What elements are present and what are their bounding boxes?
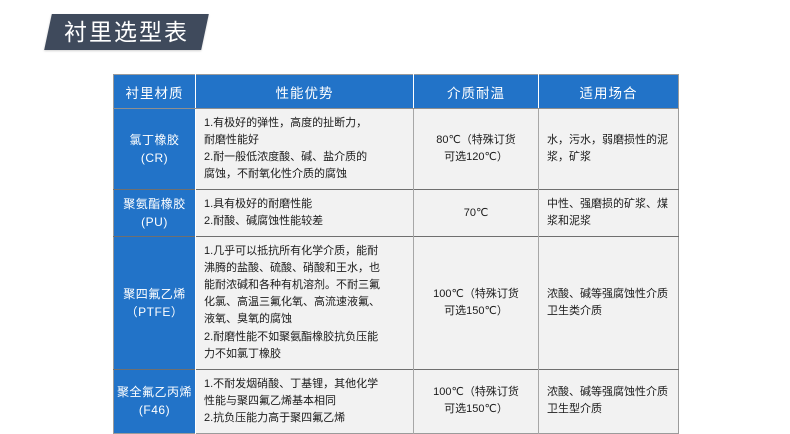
table-row: 氯丁橡胶 (CR) 1.有极好的弹性，高度的扯断力， 耐磨性能好 2.耐一般低浓…	[114, 109, 679, 190]
performance-line: 2.抗负压能力高于聚四氟乙烯	[204, 410, 405, 427]
table-header-row: 衬里材质 性能优势 介质耐温 适用场合	[114, 75, 679, 109]
material-name: 氯丁橡胶	[116, 131, 193, 149]
cell-temperature: 100℃（特殊订货 可选150℃）	[414, 369, 539, 433]
cell-material: 聚全氟乙丙烯 (F46)	[114, 369, 196, 433]
performance-line: 2.耐一般低浓度酸、碱、盐介质的	[204, 149, 405, 166]
performance-line: 2.耐磨性能不如聚氨酯橡胶抗负压能	[204, 329, 405, 346]
cell-temperature: 80℃（特殊订货 可选120℃）	[414, 109, 539, 190]
performance-line: 液氧、臭氧的腐蚀	[204, 311, 405, 328]
performance-line: 沸腾的盐酸、硫酸、硝酸和王水，也	[204, 260, 405, 277]
material-name: 聚氨酯橡胶	[116, 195, 193, 213]
application-line: 中性、强磨损的矿浆、煤	[547, 196, 670, 213]
cell-performance: 1.几乎可以抵抗所有化学介质，能耐 沸腾的盐酸、硫酸、硝酸和王水，也 能耐浓碱和…	[196, 237, 414, 369]
column-header-performance: 性能优势	[196, 75, 414, 109]
application-line: 卫生型介质	[547, 401, 670, 418]
cell-temperature: 70℃	[414, 190, 539, 237]
performance-line: 2.耐酸、碱腐蚀性能较差	[204, 213, 405, 230]
cell-application: 浓酸、碱等强腐蚀性介质 卫生型介质	[539, 369, 679, 433]
cell-performance: 1.具有极好的耐磨性能 2.耐酸、碱腐蚀性能较差	[196, 190, 414, 237]
temperature-line: 可选150℃）	[422, 401, 530, 418]
cell-application: 水，污水，弱磨损性的泥 浆，矿浆	[539, 109, 679, 190]
material-code: (CR)	[116, 149, 193, 167]
application-line: 浆和泥浆	[547, 213, 670, 230]
column-header-temperature: 介质耐温	[414, 75, 539, 109]
application-line: 浓酸、碱等强腐蚀性介质	[547, 286, 670, 303]
performance-line: 性能与聚四氟乙烯基本相同	[204, 393, 405, 410]
cell-application: 浓酸、碱等强腐蚀性介质 卫生类介质	[539, 237, 679, 369]
material-code: (PU)	[116, 213, 193, 231]
lining-selection-table-wrap: 衬里材质 性能优势 介质耐温 适用场合 氯丁橡胶 (CR) 1.有极好的弹性，高…	[113, 74, 678, 434]
performance-line: 能耐浓碱和各种有机溶剂。不耐三氟	[204, 277, 405, 294]
performance-line: 1.几乎可以抵抗所有化学介质，能耐	[204, 243, 405, 260]
page-title: 衬里选型表	[64, 14, 189, 50]
column-header-material: 衬里材质	[114, 75, 196, 109]
material-code: (F46)	[116, 401, 193, 419]
material-name: 聚全氟乙丙烯	[116, 383, 193, 401]
column-header-application: 适用场合	[539, 75, 679, 109]
temperature-line: 100℃（特殊订货	[422, 384, 530, 401]
temperature-line: 100℃（特殊订货	[422, 286, 530, 303]
page-title-banner: 衬里选型表	[48, 14, 205, 50]
title-banner-shape: 衬里选型表	[44, 14, 209, 50]
table-row: 聚氨酯橡胶 (PU) 1.具有极好的耐磨性能 2.耐酸、碱腐蚀性能较差 70℃ …	[114, 190, 679, 237]
table-header: 衬里材质 性能优势 介质耐温 适用场合	[114, 75, 679, 109]
performance-line: 力不如氯丁橡胶	[204, 346, 405, 363]
cell-application: 中性、强磨损的矿浆、煤 浆和泥浆	[539, 190, 679, 237]
lining-selection-table: 衬里材质 性能优势 介质耐温 适用场合 氯丁橡胶 (CR) 1.有极好的弹性，高…	[113, 74, 679, 434]
application-line: 浓酸、碱等强腐蚀性介质	[547, 384, 670, 401]
application-line: 水，污水，弱磨损性的泥	[547, 132, 670, 149]
cell-performance: 1.有极好的弹性，高度的扯断力， 耐磨性能好 2.耐一般低浓度酸、碱、盐介质的 …	[196, 109, 414, 190]
temperature-line: 可选120℃）	[422, 149, 530, 166]
table-row: 聚全氟乙丙烯 (F46) 1.不耐发烟硝酸、丁基锂，其他化学 性能与聚四氟乙烯基…	[114, 369, 679, 433]
performance-line: 耐磨性能好	[204, 132, 405, 149]
application-line: 浆，矿浆	[547, 149, 670, 166]
cell-material: 氯丁橡胶 (CR)	[114, 109, 196, 190]
performance-line: 化氯、高温三氟化氧、高流速液氟、	[204, 294, 405, 311]
temperature-line: 80℃（特殊订货	[422, 132, 530, 149]
performance-line: 1.有极好的弹性，高度的扯断力，	[204, 115, 405, 132]
performance-line: 1.具有极好的耐磨性能	[204, 196, 405, 213]
cell-material: 聚氨酯橡胶 (PU)	[114, 190, 196, 237]
page-root: 衬里选型表 衬里材质 性能优势 介质耐温 适用场合 氯丁橡胶 (CR)	[0, 0, 790, 423]
temperature-line: 可选150℃）	[422, 303, 530, 320]
table-row: 聚四氟乙烯 （PTFE） 1.几乎可以抵抗所有化学介质，能耐 沸腾的盐酸、硫酸、…	[114, 237, 679, 369]
material-name: 聚四氟乙烯	[116, 285, 193, 303]
performance-line: 腐蚀，不耐氧化性介质的腐蚀	[204, 166, 405, 183]
cell-temperature: 100℃（特殊订货 可选150℃）	[414, 237, 539, 369]
application-line: 卫生类介质	[547, 303, 670, 320]
material-code: （PTFE）	[116, 303, 193, 321]
cell-material: 聚四氟乙烯 （PTFE）	[114, 237, 196, 369]
performance-line: 1.不耐发烟硝酸、丁基锂，其他化学	[204, 376, 405, 393]
cell-performance: 1.不耐发烟硝酸、丁基锂，其他化学 性能与聚四氟乙烯基本相同 2.抗负压能力高于…	[196, 369, 414, 433]
table-body: 氯丁橡胶 (CR) 1.有极好的弹性，高度的扯断力， 耐磨性能好 2.耐一般低浓…	[114, 109, 679, 434]
temperature-line: 70℃	[422, 205, 530, 222]
